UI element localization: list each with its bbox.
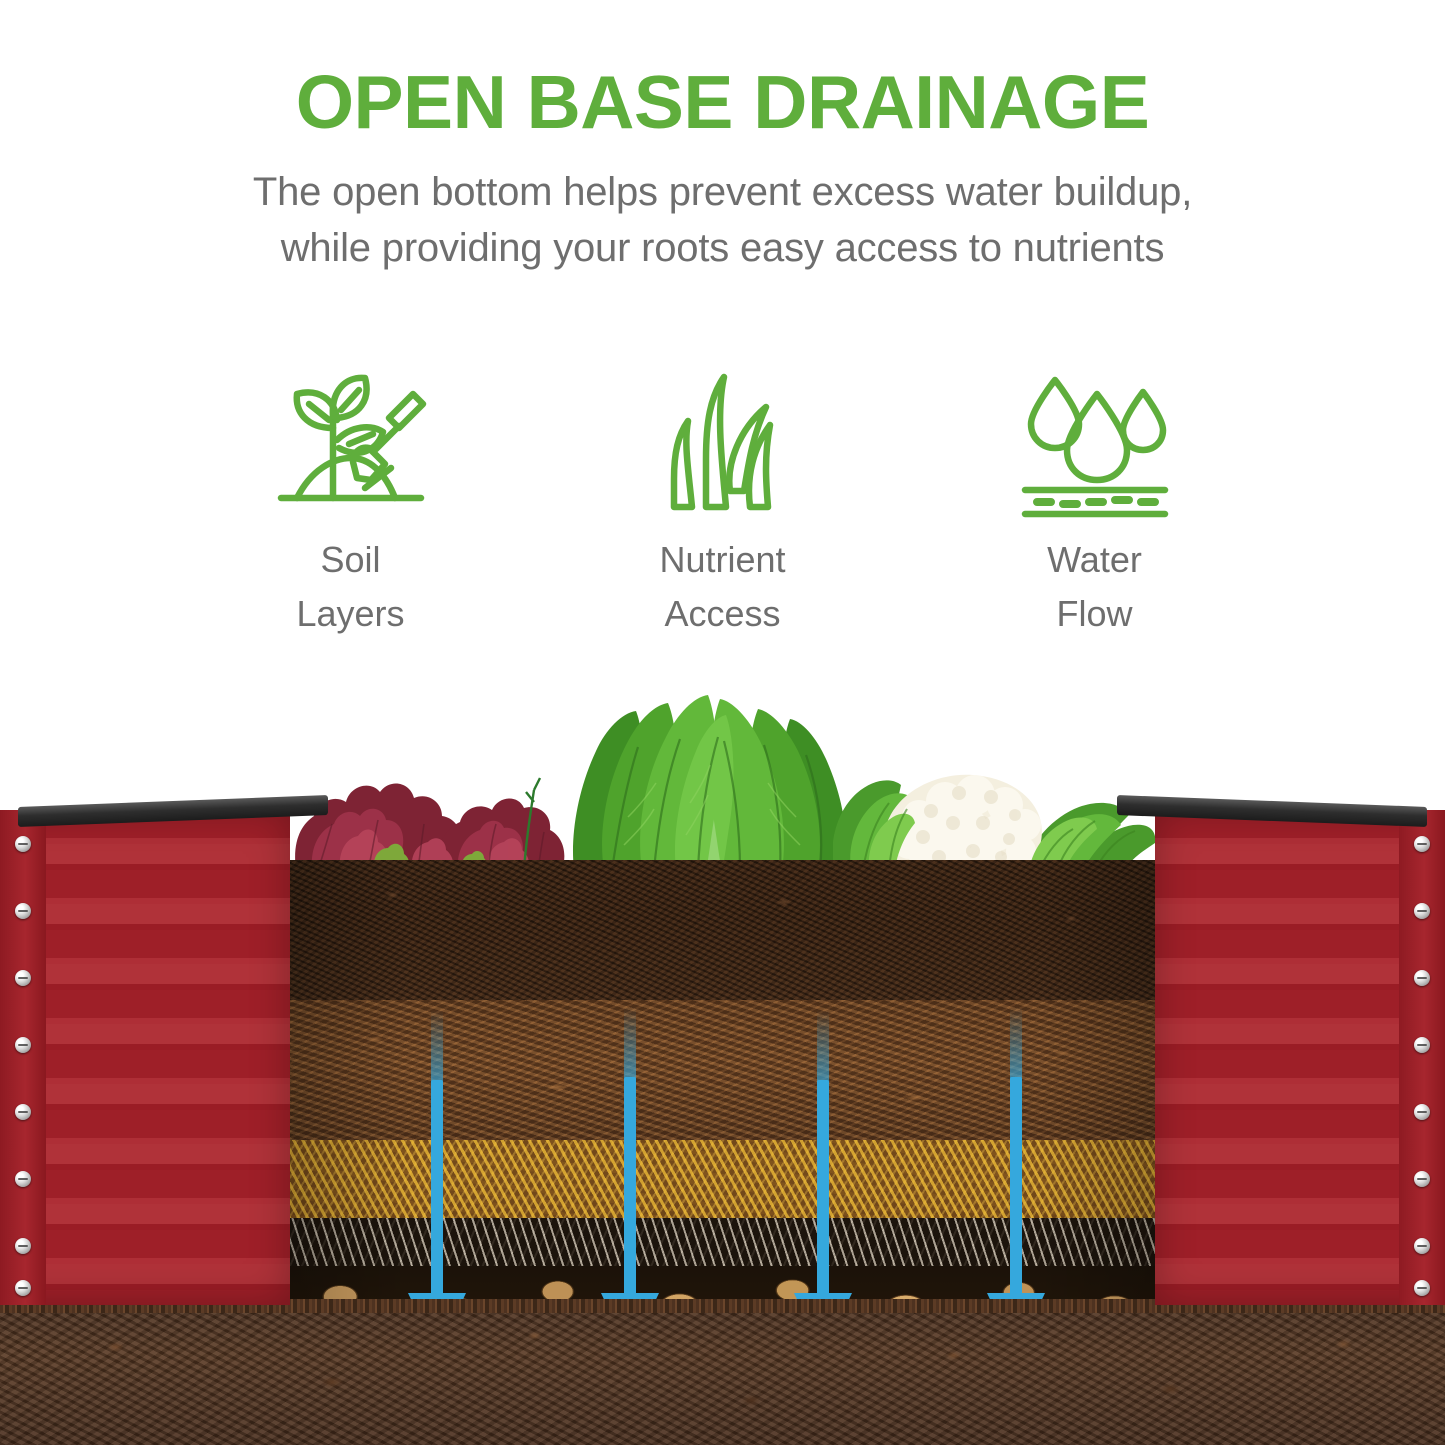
page-subtitle: The open bottom helps prevent excess wat…	[0, 142, 1445, 276]
garden-ground-soil	[0, 1305, 1445, 1445]
page-title: OPEN BASE DRAINAGE	[0, 0, 1445, 142]
panel-screw	[1414, 1280, 1430, 1296]
panel-screw	[15, 903, 31, 919]
feature-label-line-1: Water	[909, 533, 1281, 587]
header: OPEN BASE DRAINAGE The open bottom helps…	[0, 0, 1445, 276]
panel-screw	[1414, 1171, 1430, 1187]
arrow-stem	[431, 1080, 443, 1295]
left-corrugated-panel	[0, 810, 290, 1305]
panel-screw	[1414, 970, 1430, 986]
panel-screw	[1414, 1037, 1430, 1053]
cauliflower	[833, 705, 1158, 870]
panel-screw	[1414, 836, 1430, 852]
plant-row	[288, 680, 1158, 870]
panel-screw	[15, 1280, 31, 1296]
arrow-stem	[624, 1077, 636, 1295]
panel-screw	[15, 1171, 31, 1187]
arrow-stem	[1010, 1077, 1022, 1295]
feature-nutrient-access: Nutrient Access	[537, 360, 909, 641]
feature-water-flow: Water Flow	[909, 360, 1281, 641]
panel-screw	[1414, 1104, 1430, 1120]
green-romaine-lettuce	[568, 685, 858, 870]
panel-screw	[1414, 1238, 1430, 1254]
feature-label-line-1: Nutrient	[537, 533, 909, 587]
feature-label-water-flow: Water Flow	[909, 533, 1281, 641]
panel-screw	[1414, 903, 1430, 919]
feature-label-line-2: Access	[537, 587, 909, 641]
feature-label-line-2: Layers	[165, 587, 537, 641]
left-screw-post	[0, 810, 46, 1305]
feature-label-nutrient-access: Nutrient Access	[537, 533, 909, 641]
feature-row: Soil Layers Nutrient Acces	[0, 360, 1445, 641]
feature-label-line-2: Flow	[909, 587, 1281, 641]
feature-label-soil-layers: Soil Layers	[165, 533, 537, 641]
water-drops-permeable-layer-icon	[909, 360, 1281, 525]
right-corrugated-panel	[1155, 810, 1445, 1305]
panel-screw	[15, 1104, 31, 1120]
product-cutaway-scene	[0, 655, 1445, 1445]
panel-screw	[15, 1238, 31, 1254]
plant-shovel-icon	[165, 360, 537, 525]
panel-screw	[15, 836, 31, 852]
soil-layer-topsoil	[288, 860, 1158, 1000]
arrow-stem	[817, 1080, 829, 1295]
subtitle-line-2: while providing your roots easy access t…	[0, 220, 1445, 276]
infographic-page: OPEN BASE DRAINAGE The open bottom helps…	[0, 0, 1445, 1445]
subtitle-line-1: The open bottom helps prevent excess wat…	[0, 164, 1445, 220]
panel-screw	[15, 970, 31, 986]
grass-blades-icon	[537, 360, 909, 525]
feature-label-line-1: Soil	[165, 533, 537, 587]
red-leaf-lettuce	[288, 720, 588, 870]
feature-soil-layers: Soil Layers	[165, 360, 537, 641]
right-screw-post	[1399, 810, 1445, 1305]
panel-screw	[15, 1037, 31, 1053]
